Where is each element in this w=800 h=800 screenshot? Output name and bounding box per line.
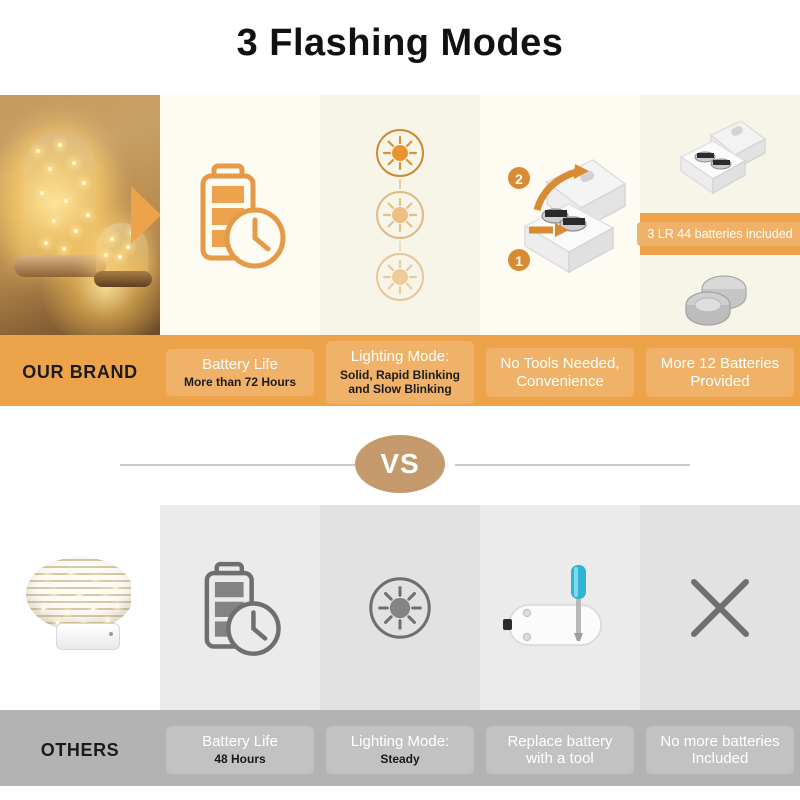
chip-title: Battery Life — [170, 733, 310, 750]
brand-chip-no-tools: No Tools Needed, Convenience — [486, 348, 634, 397]
others-pointer-arrow-icon — [131, 579, 160, 637]
chip-detail: More than 72 Hours — [170, 375, 310, 389]
others-label-cell-4: No more batteries Included — [640, 710, 800, 790]
others-feature-icon-cell-3 — [480, 505, 640, 710]
others-chip-no-batteries: No more batteries Included — [646, 726, 794, 775]
battery-callout-banner: 3 LR 44 batteries included — [640, 213, 800, 255]
brand-panels: 1 2 — [0, 95, 800, 335]
closed-battery-box-icon — [665, 109, 775, 201]
brand-chip-lighting-mode: Lighting Mode: Solid, Rapid Blinking and… — [326, 341, 474, 403]
chip-title-line2: with a tool — [490, 750, 630, 767]
sun-icon-mid — [374, 189, 426, 241]
chip-title-line2: Included — [650, 750, 790, 767]
others-chip-replace-battery: Replace battery with a tool — [486, 726, 634, 775]
others-label-cell-2: Lighting Mode: Steady — [320, 710, 480, 790]
brand-feature-icon-cell-2 — [320, 95, 480, 335]
others-row-divider — [0, 786, 800, 790]
sun-link-2 — [399, 241, 401, 251]
brand-feature-icon-cell-1 — [160, 95, 320, 335]
brand-label-cell-1: Battery Life More than 72 Hours — [160, 335, 320, 410]
chip-detail: 48 Hours — [170, 752, 310, 766]
string-light-battery-pack — [56, 623, 120, 650]
sun-icon-dim — [374, 251, 426, 303]
single-sun-icon — [367, 575, 433, 641]
others-label-bar: OTHERS Battery Life 48 Hours Lighting Mo… — [0, 710, 800, 790]
chip-title-line2: Provided — [650, 373, 790, 390]
battery-callout-text: 3 LR 44 batteries included — [637, 222, 800, 246]
others-label-cell-1: Battery Life 48 Hours — [160, 710, 320, 790]
svg-text:1: 1 — [515, 253, 523, 269]
brand-pointer-arrow-icon — [131, 186, 160, 244]
brand-name-label: OUR BRAND — [0, 335, 160, 410]
battery-box-photo — [640, 101, 800, 209]
brand-label-cell-3: No Tools Needed, Convenience — [480, 335, 640, 410]
svg-text:2: 2 — [515, 171, 523, 187]
others-feature-icon-cell-2 — [320, 505, 480, 710]
others-feature-icon-cell-1 — [160, 505, 320, 710]
brand-hero-photo — [0, 95, 160, 335]
others-chip-battery-life: Battery Life 48 Hours — [166, 726, 314, 774]
vs-separator: VS — [0, 435, 800, 495]
chip-detail: Solid, Rapid Blinking and Slow Blinking — [330, 368, 470, 397]
others-panels — [0, 505, 800, 710]
chip-title: Replace battery — [490, 733, 630, 750]
brand-chip-battery-life: Battery Life More than 72 Hours — [166, 349, 314, 397]
coin-batteries-icon — [672, 265, 768, 329]
brand-row-divider — [0, 406, 800, 410]
brand-feature-icon-cell-3: 1 2 — [480, 95, 640, 335]
chip-title: No Tools Needed, — [490, 355, 630, 372]
brand-feature-icon-cell-4: 3 LR 44 batteries included — [640, 95, 800, 335]
battery-pack-screwdriver-icon — [495, 555, 625, 661]
others-feature-icon-cell-4 — [640, 505, 800, 710]
brand-label-cell-4: More 12 Batteries Provided — [640, 335, 800, 410]
string-light-leds — [26, 557, 134, 631]
chip-title: Battery Life — [170, 356, 310, 373]
battery-clock-icon — [197, 555, 283, 661]
x-cross-icon — [684, 572, 756, 644]
brand-chip-more-batteries: More 12 Batteries Provided — [646, 348, 794, 397]
three-sun-flashing-icon — [374, 127, 426, 303]
chip-title: More 12 Batteries — [650, 355, 790, 372]
chip-title: Lighting Mode: — [330, 733, 470, 750]
page-title: 3 Flashing Modes — [0, 22, 800, 65]
chip-title-line2: Convenience — [490, 373, 630, 390]
sun-link-1 — [399, 179, 401, 189]
others-comparison-row: OTHERS Battery Life 48 Hours Lighting Mo… — [0, 505, 800, 790]
vs-badge: VS — [355, 435, 445, 493]
others-label-cell-3: Replace battery with a tool — [480, 710, 640, 790]
chip-title: Lighting Mode: — [330, 348, 470, 365]
coin-batteries-photo — [640, 259, 800, 335]
chip-title: No more batteries — [650, 733, 790, 750]
infographic-page: 3 Flashing Modes — [0, 0, 800, 800]
vs-line-right — [455, 464, 690, 466]
chip-detail: Steady — [330, 752, 470, 766]
battery-clock-icon — [192, 156, 288, 274]
others-hero-photo — [0, 505, 160, 710]
brand-comparison-row: 1 2 — [0, 95, 800, 410]
others-name-label: OTHERS — [0, 710, 160, 790]
battery-box-open-icon: 1 2 — [485, 140, 635, 290]
others-chip-lighting-mode: Lighting Mode: Steady — [326, 726, 474, 774]
sun-icon-bright — [374, 127, 426, 179]
brand-label-bar: OUR BRAND Battery Life More than 72 Hour… — [0, 335, 800, 410]
vs-line-left — [120, 464, 355, 466]
brand-label-cell-2: Lighting Mode: Solid, Rapid Blinking and… — [320, 335, 480, 410]
